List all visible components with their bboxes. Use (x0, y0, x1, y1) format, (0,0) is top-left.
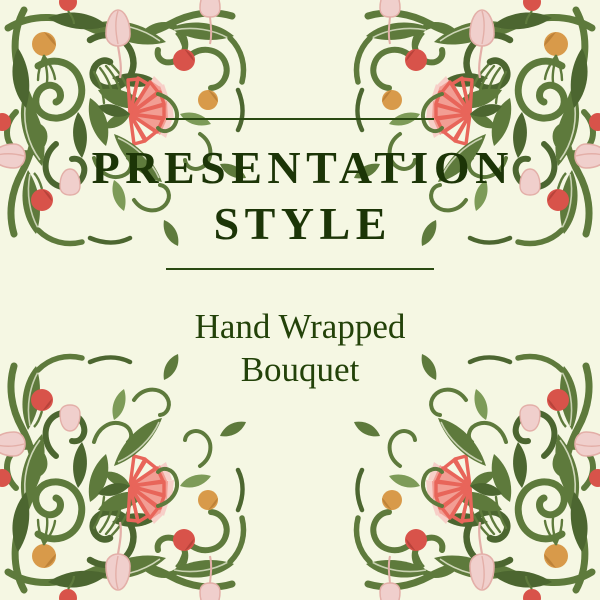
page-subtitle-line-1: Hand Wrapped (195, 306, 406, 349)
page-title: PRESENTATION STYLE (86, 140, 514, 252)
divider-rule-top (166, 118, 434, 120)
card-content: PRESENTATION STYLE Hand Wrapped Bouquet (0, 118, 600, 392)
presentation-style-card: PRESENTATION STYLE Hand Wrapped Bouquet (0, 0, 600, 600)
page-title-line-1: PRESENTATION (86, 140, 514, 196)
page-subtitle: Hand Wrapped Bouquet (195, 270, 406, 391)
page-subtitle-line-2: Bouquet (195, 349, 406, 392)
page-title-line-2: STYLE (86, 196, 514, 252)
